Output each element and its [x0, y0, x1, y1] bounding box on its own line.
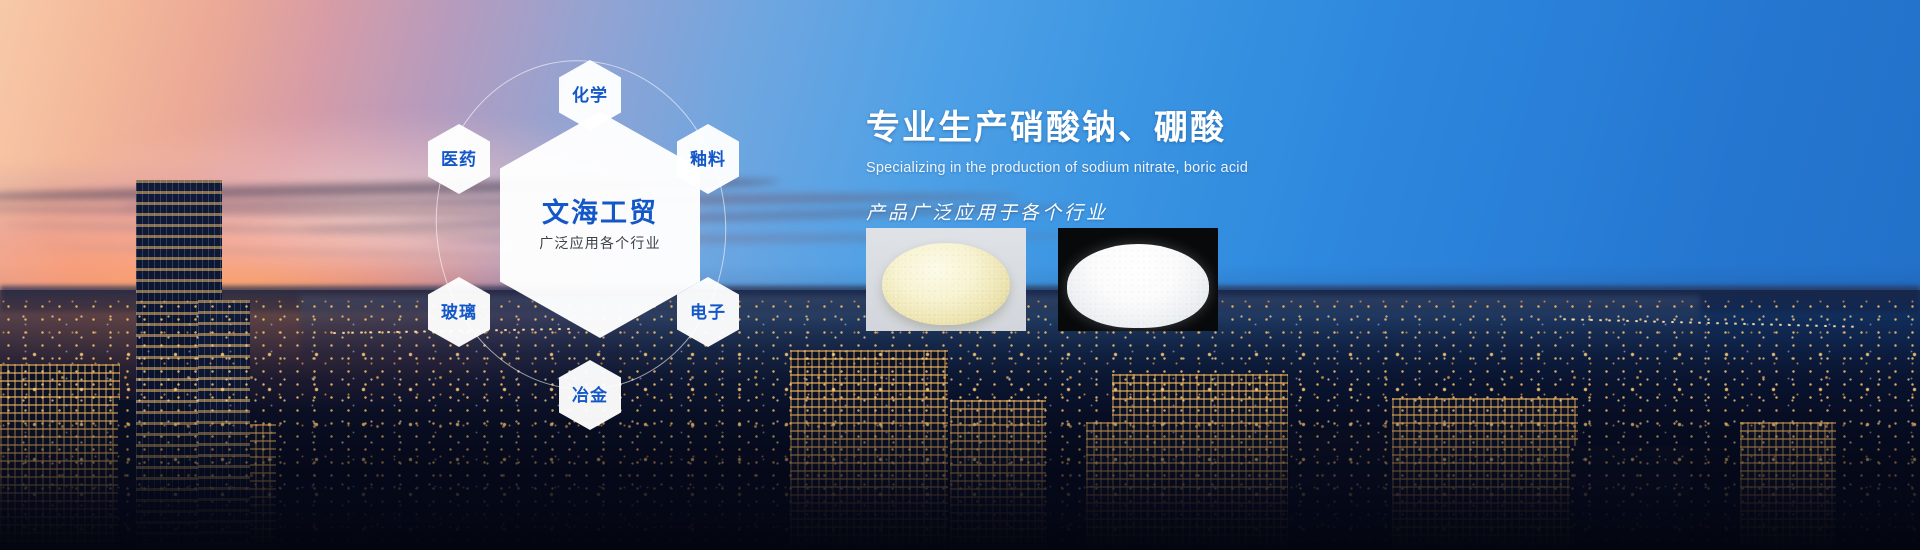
product-photo-sodium-nitrate: [866, 228, 1026, 331]
powder-pile: [1067, 244, 1209, 328]
hex-node-label: 电子: [690, 304, 726, 321]
industry-hex-diagram: 化学 釉料 电子 冶金 玻璃 医药 文海工贸 广泛应用各个行业: [410, 22, 790, 442]
hex-node-label: 医药: [441, 151, 477, 168]
hex-node-label: 玻璃: [441, 304, 477, 321]
powder-pile: [882, 243, 1010, 325]
hex-node-label: 冶金: [572, 387, 608, 404]
headline-english: Specializing in the production of sodium…: [866, 160, 1566, 176]
tagline-chinese: 产品广泛应用于各个行业: [866, 198, 1566, 225]
product-photo-group: [866, 228, 1218, 331]
product-photo-boric-acid: [1058, 228, 1218, 331]
hex-node-label: 釉料: [690, 151, 726, 168]
powder-grain-texture: [882, 243, 1010, 325]
foreground-shadow: [0, 400, 1920, 550]
promo-banner: 化学 釉料 电子 冶金 玻璃 医药 文海工贸 广泛应用各个行业 专业生产硝酸钠、…: [0, 0, 1920, 550]
company-name: 文海工贸: [542, 200, 658, 227]
powder-grain-texture: [1067, 244, 1209, 328]
headline-chinese: 专业生产硝酸钠、硼酸: [866, 100, 1566, 149]
headline-block: 专业生产硝酸钠、硼酸 Specializing in the productio…: [866, 100, 1566, 225]
company-tagline: 广泛应用各个行业: [539, 236, 661, 250]
hex-node-label: 化学: [572, 87, 608, 104]
